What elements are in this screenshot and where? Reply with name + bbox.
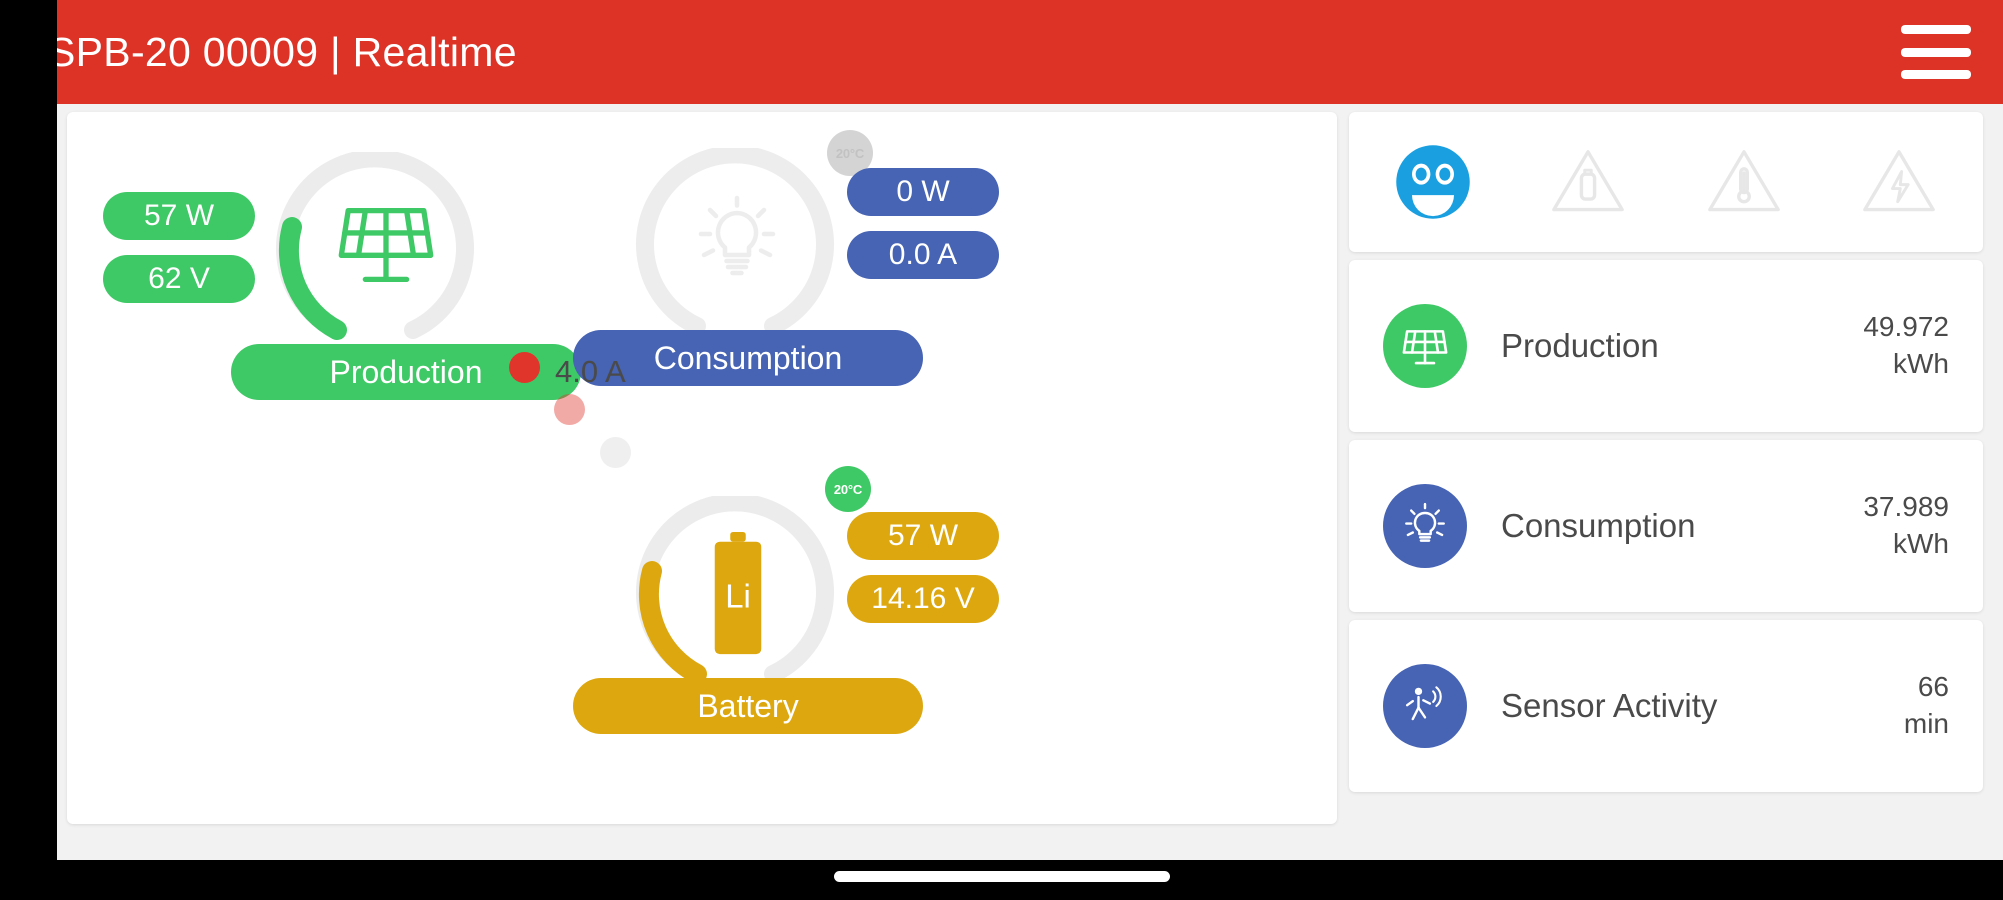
app-window: SPB-20 00009 | Realtime: [57, 0, 2003, 860]
production-power-pill: 57 W: [103, 192, 255, 240]
motion-sensor-icon: [1383, 664, 1467, 748]
metric-number-consumption: 37.989: [1863, 491, 1949, 522]
production-power-value: 57 W: [144, 199, 214, 233]
battery-voltage-pill: 14.16 V: [847, 575, 999, 623]
app-header: SPB-20 00009 | Realtime: [57, 0, 2003, 104]
energy-transfer-flow: 4.0 A: [497, 342, 797, 462]
battery-node[interactable]: Li 20°C 57 W 14.16 V Battery: [627, 474, 1327, 774]
battery-temperature-badge: 20°C: [825, 466, 871, 512]
battery-temperature-value: 20°C: [834, 482, 862, 497]
consumption-temperature-value: 20°C: [836, 146, 864, 161]
transfer-current-label: 4.0 A: [555, 354, 626, 390]
summary-sidebar: Production 49.972 kWh: [1349, 112, 1983, 860]
menu-bar-2: [1901, 48, 1971, 57]
production-voltage-pill: 62 V: [103, 255, 255, 303]
flow-dot-3: [600, 437, 631, 468]
menu-bar-1: [1901, 25, 1971, 34]
gauge-value-arc: [289, 227, 337, 330]
warning-triangle-thermometer-icon[interactable]: [1696, 134, 1792, 230]
battery-label-pill[interactable]: Battery: [573, 678, 923, 734]
metric-number-production: 49.972: [1863, 311, 1949, 342]
metric-value-production: 49.972 kWh: [1829, 309, 1949, 383]
metric-number-sensor-activity: 66: [1918, 671, 1949, 702]
svg-text:Li: Li: [725, 578, 751, 615]
consumption-power-pill: 0 W: [847, 168, 999, 216]
battery-power-value: 57 W: [888, 519, 958, 553]
menu-bar-3: [1901, 70, 1971, 79]
system-navigation-bar: [0, 860, 2003, 900]
dashboard-body: 57 W 62 V Production: [57, 104, 2003, 860]
consumption-current-pill: 0.0 A: [847, 231, 999, 279]
smiley-face-icon[interactable]: [1385, 134, 1481, 230]
production-node[interactable]: 57 W 62 V Production: [85, 142, 545, 392]
device-frame: SPB-20 00009 | Realtime: [0, 0, 2003, 900]
metric-row-consumption[interactable]: Consumption 37.989 kWh: [1349, 440, 1983, 612]
metric-label-sensor-activity: Sensor Activity: [1501, 687, 1829, 725]
battery-power-pill: 57 W: [847, 512, 999, 560]
metric-unit-sensor-activity: min: [1829, 706, 1949, 743]
consumption-current-value: 0.0 A: [889, 238, 957, 272]
energy-flow-diagram: 57 W 62 V Production: [67, 112, 1337, 824]
metric-value-sensor-activity: 66 min: [1829, 669, 1949, 743]
consumption-power-value: 0 W: [896, 175, 949, 209]
status-indicator-bar: [1349, 112, 1983, 252]
metric-value-consumption: 37.989 kWh: [1829, 489, 1949, 563]
light-bulb-icon: [1383, 484, 1467, 568]
flow-dot-2: [554, 394, 585, 425]
page-title: SPB-20 00009 | Realtime: [57, 29, 517, 76]
warning-triangle-bolt-icon[interactable]: [1851, 134, 1947, 230]
metric-row-production[interactable]: Production 49.972 kWh: [1349, 260, 1983, 432]
metric-unit-production: kWh: [1829, 346, 1949, 383]
gauge-value-arc: [649, 571, 697, 674]
battery-voltage-value: 14.16 V: [871, 582, 974, 616]
flow-dot-1: [509, 352, 540, 383]
solar-panel-icon: [1383, 304, 1467, 388]
metric-row-sensor-activity[interactable]: Sensor Activity 66 min: [1349, 620, 1983, 792]
warning-triangle-battery-icon[interactable]: [1540, 134, 1636, 230]
production-voltage-value: 62 V: [148, 262, 210, 296]
solar-panel-icon: [331, 190, 441, 305]
battery-label: Battery: [697, 688, 798, 725]
hamburger-menu-icon[interactable]: [1901, 25, 1971, 79]
home-indicator-bar[interactable]: [834, 871, 1170, 882]
battery-li-icon: Li: [707, 530, 769, 663]
metric-label-production: Production: [1501, 327, 1829, 365]
light-bulb-icon: [689, 192, 785, 293]
production-label: Production: [330, 354, 483, 391]
metric-unit-consumption: kWh: [1829, 526, 1949, 563]
metric-label-consumption: Consumption: [1501, 507, 1829, 545]
